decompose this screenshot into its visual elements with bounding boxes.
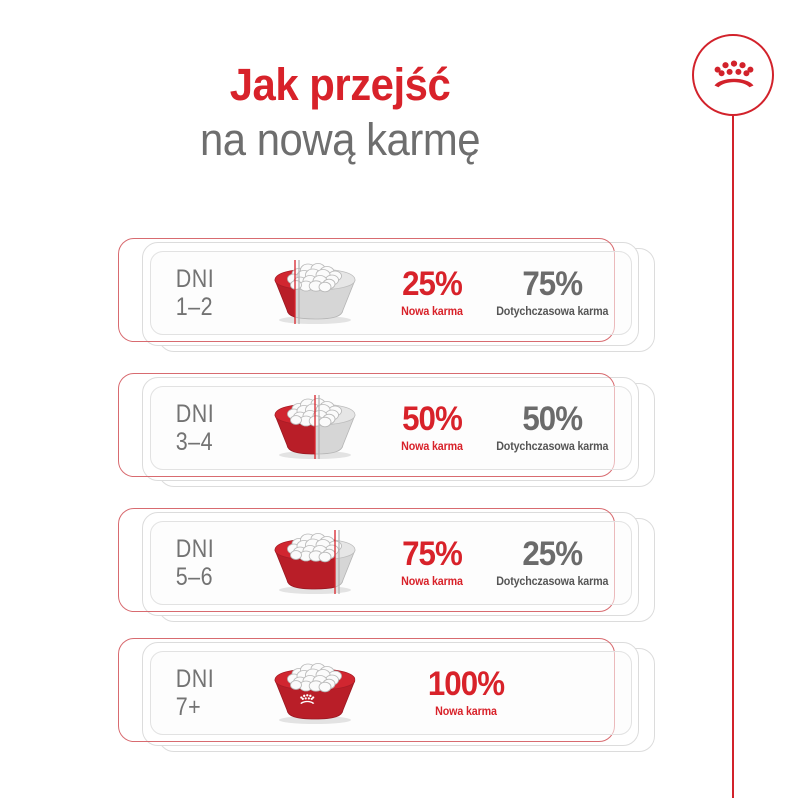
transition-schedule-list: DNI1–225%Nowa karma75%Dotychczasowa karm…	[0, 0, 800, 800]
percentages-cell: 25%Nowa karma75%Dotychczasowa karma	[374, 267, 632, 319]
percentages-cell: 75%Nowa karma25%Dotychczasowa karma	[374, 537, 632, 589]
percentages-cell: 50%Nowa karma50%Dotychczasowa karma	[374, 402, 632, 454]
new-food-caption: Nowa karma	[387, 577, 476, 589]
dog-bowl-25-percent-icon	[256, 260, 374, 326]
dog-bowl-50-percent-icon	[256, 395, 374, 461]
old-food-stat: 50%Dotychczasowa karma	[492, 402, 613, 454]
days-label: DNI	[176, 400, 241, 428]
new-food-stat: 75%Nowa karma	[384, 537, 480, 589]
dog-bowl-100-percent-branded-icon	[256, 660, 374, 726]
new-food-stat: 25%Nowa karma	[384, 267, 480, 319]
days-range: 3–4	[176, 428, 241, 456]
schedule-row[interactable]: DNI1–225%Nowa karma75%Dotychczasowa karm…	[118, 238, 623, 348]
old-food-caption: Dotychczasowa karma	[496, 442, 608, 454]
days-label: DNI	[176, 265, 241, 293]
new-food-percent: 25%	[388, 267, 476, 302]
old-food-caption: Dotychczasowa karma	[496, 307, 608, 319]
old-food-percent: 50%	[497, 402, 608, 437]
new-food-percent: 75%	[388, 537, 476, 572]
days-cell: DNI7+	[150, 665, 241, 721]
dog-bowl-75-percent-icon	[256, 530, 374, 596]
new-food-caption: Nowa karma	[387, 442, 476, 454]
old-food-stat: 25%Dotychczasowa karma	[492, 537, 613, 589]
days-label: DNI	[176, 665, 241, 693]
old-food-stat: 75%Dotychczasowa karma	[492, 267, 613, 319]
days-label: DNI	[176, 535, 241, 563]
new-food-caption: Nowa karma	[410, 707, 522, 719]
days-cell: DNI1–2	[150, 265, 241, 321]
schedule-row[interactable]: DNI7+100%Nowa karma	[118, 638, 623, 748]
schedule-row[interactable]: DNI3–450%Nowa karma50%Dotychczasowa karm…	[118, 373, 623, 483]
days-range: 7+	[176, 693, 241, 721]
percentages-cell: 100%Nowa karma	[374, 667, 632, 719]
days-range: 5–6	[176, 563, 241, 591]
days-range: 1–2	[176, 293, 241, 321]
new-food-stat: 100%Nowa karma	[406, 667, 526, 719]
old-food-caption: Dotychczasowa karma	[496, 577, 608, 589]
days-cell: DNI3–4	[150, 400, 241, 456]
schedule-row[interactable]: DNI5–675%Nowa karma25%Dotychczasowa karm…	[118, 508, 623, 618]
new-food-percent: 100%	[411, 667, 521, 702]
days-cell: DNI5–6	[150, 535, 241, 591]
old-food-percent: 75%	[497, 267, 608, 302]
old-food-percent: 25%	[497, 537, 608, 572]
new-food-percent: 50%	[388, 402, 476, 437]
new-food-caption: Nowa karma	[387, 307, 476, 319]
new-food-stat: 50%Nowa karma	[384, 402, 480, 454]
